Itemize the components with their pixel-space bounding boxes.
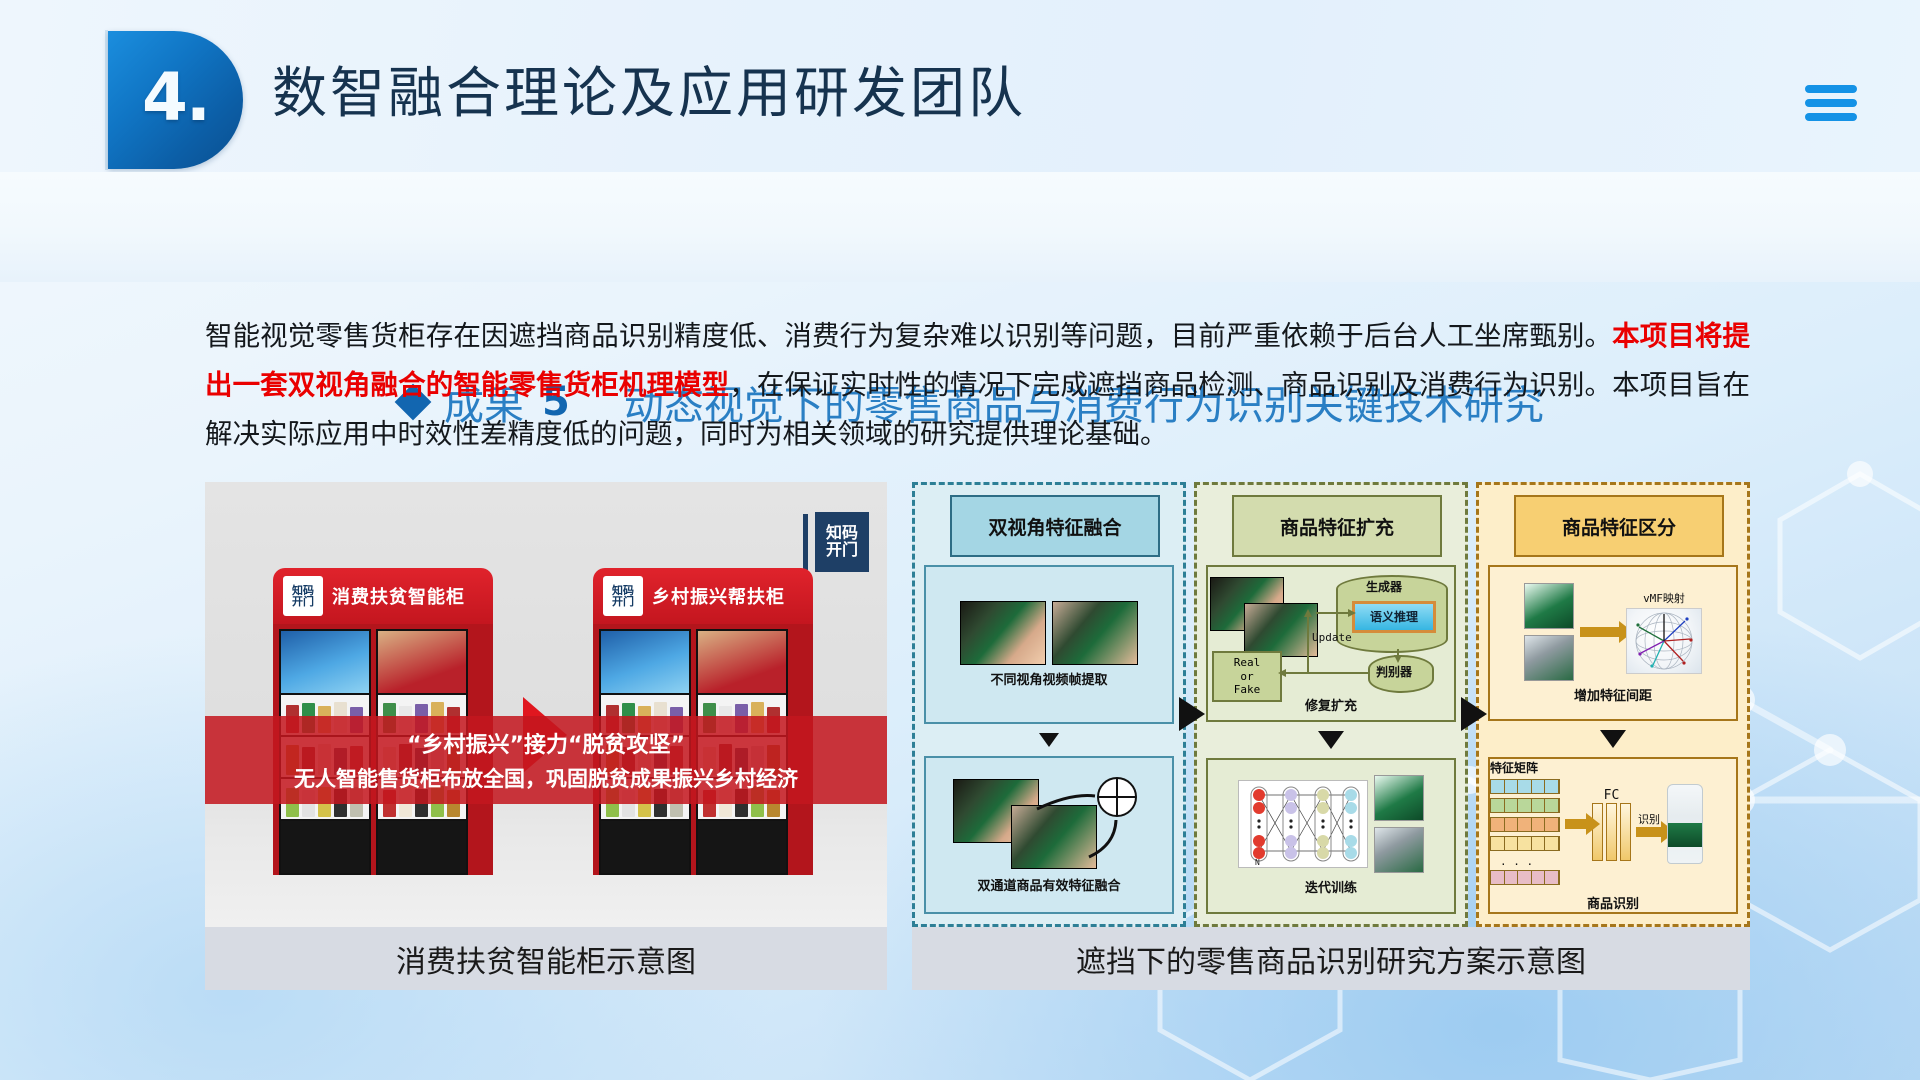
video-frame-view-b (1052, 601, 1138, 665)
matrix-ellipsis: . . . (1500, 855, 1560, 868)
column-1-title: 双视角特征融合 (950, 495, 1160, 557)
section-number-badge: 4. (108, 31, 243, 169)
section-number: 4. (142, 59, 209, 136)
recognize-arrow-group: 识别 (1636, 811, 1662, 837)
recognize-label: 识别 (1638, 811, 1660, 827)
logo-line-2: 开门 (826, 542, 858, 559)
recognition-illustration: 特征矩阵 . . . FC (1484, 759, 1742, 889)
sphere-icon (1627, 609, 1701, 673)
left-figure-caption-text: 消费扶贫智能柜示意图 (396, 937, 696, 981)
cabinet-base (599, 821, 691, 875)
banner-line-2: 无人智能售货柜布放全国，巩固脱贫成果振兴乡村经济 (294, 763, 798, 793)
cabinet-2-title: 乡村振兴帮扶柜 (652, 583, 785, 609)
vmf-sphere-plot (1626, 608, 1702, 674)
gold-right-arrow-icon (1580, 627, 1620, 637)
matrix-row (1490, 870, 1560, 885)
left-figure: 知码 开门 知码 开门 消费扶贫智能柜 (205, 482, 887, 990)
svg-text:N: N (1255, 858, 1260, 867)
video-frame-pair (960, 601, 1138, 665)
column-3-block-2: 特征矩阵 . . . FC (1488, 757, 1738, 914)
banner-line-1: “乡村振兴”接力“脱贫攻坚” (407, 727, 685, 759)
hamburger-menu-icon[interactable] (1805, 85, 1857, 121)
slide-header: 4. 数智融合理论及应用研发团队 (0, 0, 1920, 172)
column-3-block-2-caption: 商品识别 (1587, 893, 1639, 912)
product-samples (1374, 775, 1424, 873)
gan-diagram: 生成器 语义推理 判别器 RealorFake Update (1208, 573, 1454, 691)
vending-machine-photo: 知码 开门 知码 开门 消费扶贫智能柜 (205, 482, 887, 927)
left-figure-caption: 消费扶贫智能柜示意图 (205, 927, 887, 990)
column-1-block-2-caption: 双通道商品有效特征融合 (977, 875, 1120, 894)
ad-screen-blue (279, 629, 371, 695)
black-right-arrow-icon (1461, 697, 1487, 731)
vmf-mapping-label: vMF映射 (1643, 590, 1685, 606)
matrix-row (1490, 817, 1560, 832)
cabinet-base (376, 821, 468, 875)
recognized-bottle-image (1667, 784, 1703, 864)
fusion-illustration (949, 775, 1149, 871)
nn-graph-icon: N (1239, 781, 1367, 867)
column-1-block-1-caption: 不同视角视频帧提取 (990, 669, 1107, 688)
hamburger-bar-1 (1805, 85, 1857, 93)
column-2-title: 商品特征扩充 (1232, 495, 1442, 557)
brand-watermark-logo: 知码 开门 (803, 512, 869, 572)
barcode-image (1374, 827, 1424, 873)
pipeline-column-2: 商品特征扩充 生成器 语义推理 判别器 RealorFake Update (1194, 482, 1468, 927)
vmf-illustration: vMF映射 (1524, 583, 1702, 681)
ad-screen-blue (599, 629, 691, 695)
cabinet-1-header: 知码 开门 消费扶贫智能柜 (273, 568, 493, 624)
hamburger-bar-2 (1805, 99, 1857, 107)
column-2-block-2-caption: 迭代训练 (1305, 877, 1357, 896)
column-2-block-1: 生成器 语义推理 判别器 RealorFake Update (1206, 565, 1456, 722)
cabinet-2-logo: 知码 开门 (603, 576, 643, 616)
gold-right-arrow-icon (1636, 827, 1662, 837)
fc-label: FC (1604, 788, 1620, 803)
subtitle-band: 成果 5 动态视觉下的零售商品与消费行为识别关键技术研究 (0, 172, 1920, 282)
cabinet-base (696, 821, 788, 875)
right-figure-caption: 遮挡下的零售商品识别研究方案示意图 (912, 927, 1750, 990)
product-label-image (1374, 775, 1424, 821)
column-3-title: 商品特征区分 (1514, 495, 1724, 557)
cabinet-1-logo: 知码 开门 (283, 576, 323, 616)
body-paragraph: 智能视觉零售货柜存在因遮挡商品识别精度低、消费行为复杂难以识别等问题，目前严重依… (205, 312, 1750, 459)
down-arrow-icon (1039, 733, 1059, 747)
matrix-row (1490, 798, 1560, 813)
pipeline-diagram: 双视角特征融合 不同视角视频帧提取 (912, 482, 1750, 927)
training-illustration: N (1238, 775, 1424, 873)
fc-bar (1606, 803, 1617, 861)
right-figure-caption-text: 遮挡下的零售商品识别研究方案示意图 (1076, 937, 1586, 981)
feature-inputs (1524, 583, 1574, 681)
red-caption-banner: “乡村振兴”接力“脱贫攻坚” 无人智能售货柜布放全国，巩固脱贫成果振兴乡村经济 (205, 716, 887, 804)
cabinet-2-header: 知码 开门 乡村振兴帮扶柜 (593, 568, 813, 624)
down-arrow-icon (1600, 730, 1626, 748)
logo-box: 知码 开门 (815, 512, 869, 572)
ad-screen-tan (376, 629, 468, 695)
column-3-block-1: vMF映射 (1488, 565, 1738, 721)
paragraph-part-1: 智能视觉零售货柜存在因遮挡商品识别精度低、消费行为复杂难以识别等问题，目前严重依… (205, 320, 1612, 352)
cabinet-2-logo-line-2: 开门 (612, 596, 634, 607)
black-right-arrow-icon (1179, 697, 1205, 731)
ad-screen-tan (696, 629, 788, 695)
gold-right-arrow-icon (1565, 819, 1587, 829)
column-1-block-1: 不同视角视频帧提取 (924, 565, 1174, 724)
barcode-image (1524, 635, 1574, 681)
down-arrow-icon (1318, 731, 1344, 749)
feature-matrix-group: 特征矩阵 . . . (1490, 759, 1560, 889)
logo-bar (803, 514, 808, 570)
column-2-block-2: N 迭代训练 (1206, 758, 1456, 915)
pipeline-column-3: 商品特征区分 vMF映射 (1476, 482, 1750, 927)
page-title: 数智融合理论及应用研发团队 (272, 48, 1026, 128)
pipeline-column-1: 双视角特征融合 不同视角视频帧提取 (912, 482, 1186, 927)
product-label-image (1524, 583, 1574, 629)
cabinet-base (279, 821, 371, 875)
gan-flow-arrows-icon (1208, 573, 1454, 691)
vmf-sphere-group: vMF映射 (1626, 590, 1702, 674)
cabinet-1-logo-line-2: 开门 (292, 596, 314, 607)
column-3-block-1-caption: 增加特征间距 (1574, 685, 1652, 704)
right-figure: 双视角特征融合 不同视角视频帧提取 (912, 482, 1750, 990)
hamburger-bar-3 (1805, 113, 1857, 121)
matrix-row (1490, 779, 1560, 794)
column-2-block-1-caption: 修复扩充 (1305, 695, 1357, 714)
feature-matrix-label: 特征矩阵 (1490, 759, 1560, 776)
cabinet-1-title: 消费扶贫智能柜 (332, 583, 465, 609)
fusion-arrows-icon (949, 775, 1149, 871)
neural-network-diagram: N (1238, 780, 1368, 868)
fc-bar (1620, 803, 1631, 861)
matrix-row (1490, 836, 1560, 851)
column-1-block-2: 双通道商品有效特征融合 (924, 756, 1174, 915)
video-frame-view-a (960, 601, 1046, 665)
